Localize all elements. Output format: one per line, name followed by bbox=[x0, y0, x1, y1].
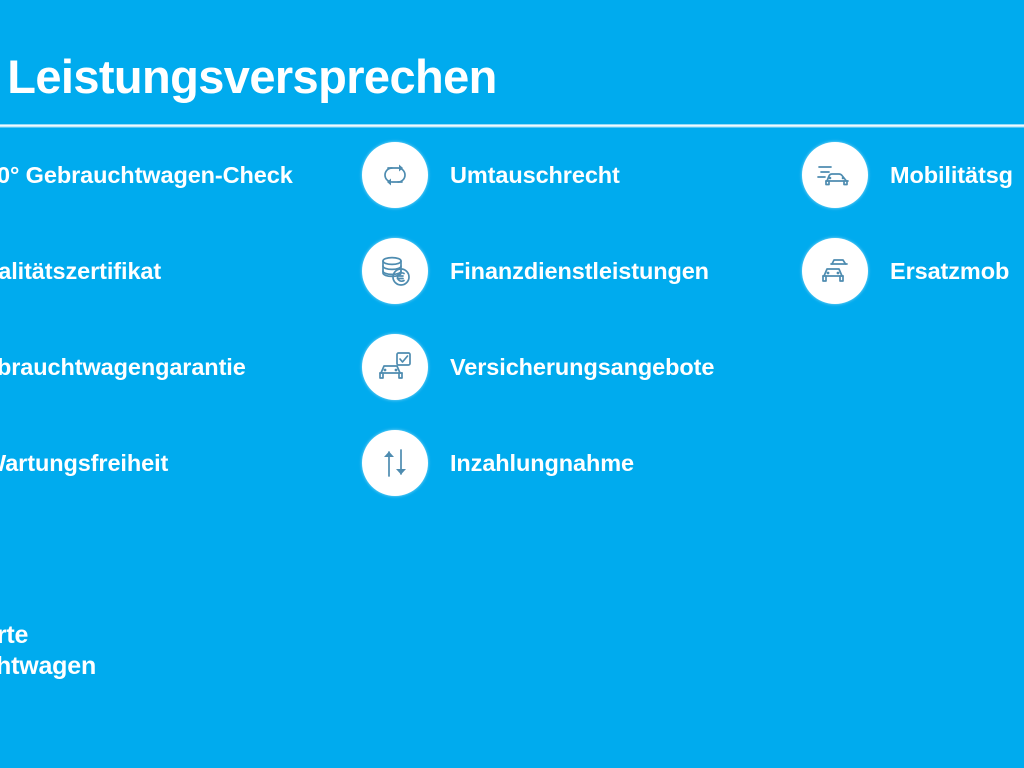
benefit-label: 60° Gebrauchtwagen-Check bbox=[0, 162, 293, 189]
benefit-item[interactable]: Finanzdienstleistungen bbox=[362, 223, 802, 319]
benefit-item[interactable]: Ersatzmob bbox=[802, 223, 1024, 319]
brand-lockup: Zertifizierte Gebrauchtwagen bbox=[0, 620, 366, 681]
two-cars-icon bbox=[802, 238, 868, 304]
up-down-arrows-icon bbox=[362, 430, 428, 496]
banner-header: ere Leistungsversprechen bbox=[0, 0, 1024, 127]
benefit-label: Finanzdienstleistungen bbox=[450, 258, 709, 285]
benefit-item[interactable]: 60° Gebrauchtwagen-Check bbox=[0, 127, 344, 223]
benefit-item[interactable]: Versicherungsangebote bbox=[362, 319, 802, 415]
brand-line-1: Zertifizierte bbox=[0, 620, 366, 651]
benefit-item[interactable]: ebrauchtwagengarantie bbox=[0, 319, 344, 415]
benefit-item[interactable]: ualitätszertifikat bbox=[0, 223, 344, 319]
car-checked-document-icon bbox=[362, 334, 428, 400]
exchange-arrows-icon bbox=[362, 142, 428, 208]
benefit-label: ebrauchtwagengarantie bbox=[0, 354, 246, 381]
benefit-item[interactable]: Mobilitätsg bbox=[802, 127, 1024, 223]
page-title: ere Leistungsversprechen bbox=[0, 52, 497, 101]
benefits-column-middle: Umtauschrecht Finanzdienstleistun bbox=[362, 127, 802, 511]
promo-banner: ere Leistungsversprechen 60° Gebrauchtwa… bbox=[0, 0, 1024, 768]
benefit-label: Inzahlungnahme bbox=[450, 450, 634, 477]
benefit-item[interactable]: Wartungsfreiheit bbox=[0, 415, 344, 511]
benefits-column-right: Mobilitätsg Ersatzmob bbox=[802, 127, 1024, 319]
benefit-label: ualitätszertifikat bbox=[0, 258, 161, 285]
benefit-label: Wartungsfreiheit bbox=[0, 450, 168, 477]
benefit-item[interactable]: Umtauschrecht bbox=[362, 127, 802, 223]
benefit-item[interactable]: Inzahlungnahme bbox=[362, 415, 802, 511]
benefits-column-left: 60° Gebrauchtwagen-Check ualitätszertifi… bbox=[0, 127, 344, 511]
benefit-label: Ersatzmob bbox=[890, 258, 1009, 285]
car-speed-icon bbox=[802, 142, 868, 208]
benefit-label: Mobilitätsg bbox=[890, 162, 1013, 189]
benefit-label: Umtauschrecht bbox=[450, 162, 620, 189]
coins-euro-icon bbox=[362, 238, 428, 304]
benefits-columns: 60° Gebrauchtwagen-Check ualitätszertifi… bbox=[0, 127, 1024, 567]
brand-line-2: Gebrauchtwagen bbox=[0, 651, 366, 682]
benefit-label: Versicherungsangebote bbox=[450, 354, 714, 381]
